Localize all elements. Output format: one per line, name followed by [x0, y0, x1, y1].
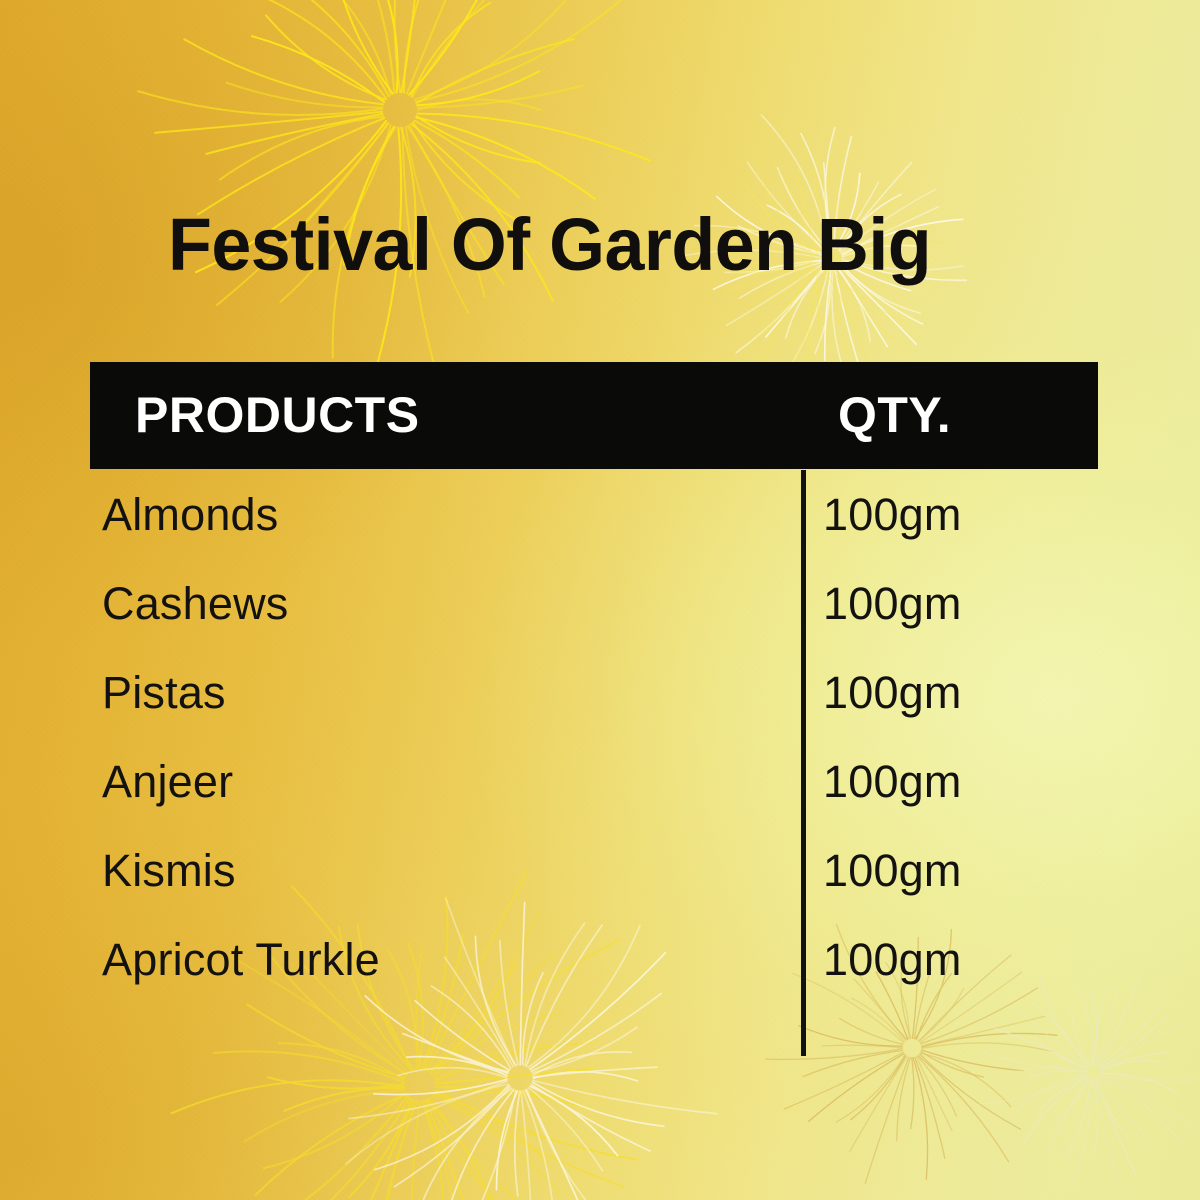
- product-name-cell: Apricot Turkle: [102, 934, 380, 986]
- column-header-qty: QTY.: [838, 385, 951, 443]
- product-qty-cell: 100gm: [823, 845, 962, 897]
- product-name-cell: Almonds: [102, 489, 278, 541]
- table-row: Apricot Turkle100gm: [0, 915, 1200, 1004]
- festival-product-poster: Festival Of Garden Big PRODUCTS QTY. Alm…: [0, 0, 1200, 1200]
- table-row: Pistas100gm: [0, 648, 1200, 737]
- column-header-products: PRODUCTS: [135, 385, 420, 443]
- product-qty-cell: 100gm: [823, 934, 962, 986]
- page-title: Festival Of Garden Big: [168, 208, 1041, 282]
- product-table-body: Almonds100gmCashews100gmPistas100gmAnjee…: [0, 470, 1200, 1004]
- table-header-bar: PRODUCTS QTY.: [90, 362, 1098, 469]
- table-row: Anjeer100gm: [0, 737, 1200, 826]
- product-qty-cell: 100gm: [823, 489, 962, 541]
- product-name-cell: Anjeer: [102, 756, 233, 808]
- table-row: Kismis100gm: [0, 826, 1200, 915]
- product-name-cell: Pistas: [102, 667, 226, 719]
- table-row: Cashews100gm: [0, 559, 1200, 648]
- table-row: Almonds100gm: [0, 470, 1200, 559]
- product-qty-cell: 100gm: [823, 756, 962, 808]
- product-qty-cell: 100gm: [823, 667, 962, 719]
- product-name-cell: Cashews: [102, 578, 288, 630]
- product-qty-cell: 100gm: [823, 578, 962, 630]
- product-name-cell: Kismis: [102, 845, 236, 897]
